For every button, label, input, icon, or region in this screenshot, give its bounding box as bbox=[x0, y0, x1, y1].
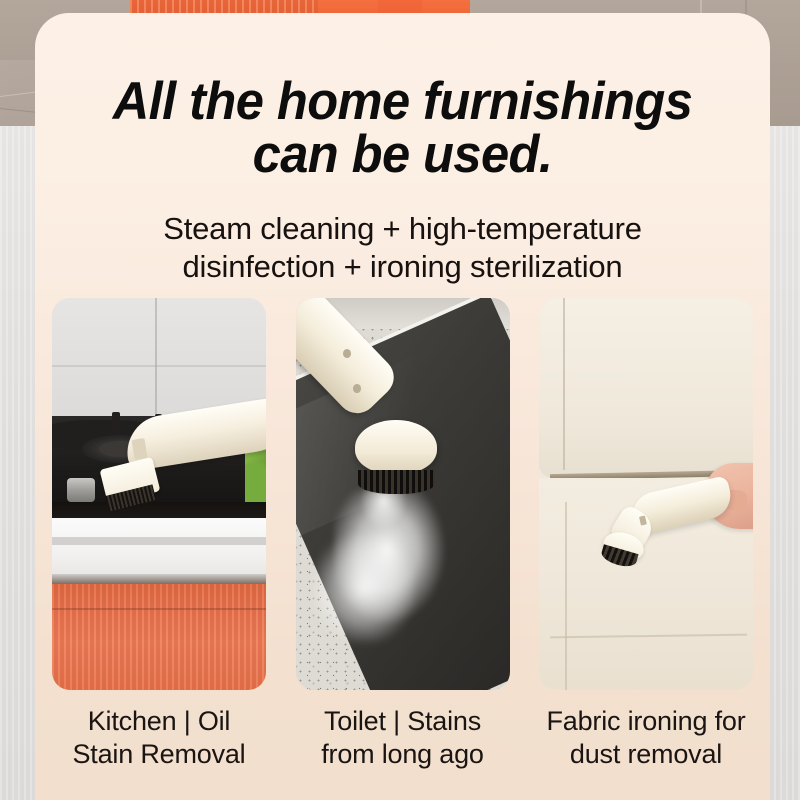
kitchen-stove-knob bbox=[67, 478, 95, 502]
sink-brush-head bbox=[355, 420, 436, 475]
kitchen-wall-seam-horizontal bbox=[52, 365, 266, 367]
caption-row: Kitchen | Oil Stain Removal Toilet | Sta… bbox=[52, 705, 753, 771]
subtitle: Steam cleaning + high-temperature disinf… bbox=[35, 210, 770, 286]
sofa-seat-seam-vertical bbox=[565, 502, 567, 690]
content-card: All the home furnishings can be used. St… bbox=[35, 13, 770, 800]
kitchen-cabinet-seam bbox=[52, 608, 266, 610]
photo-kitchen bbox=[52, 298, 266, 690]
page-title: All the home furnishings can be used. bbox=[52, 75, 754, 181]
photo-row bbox=[52, 298, 753, 690]
caption-fabric: Fabric ironing for dust removal bbox=[539, 705, 753, 771]
kitchen-counter-edge bbox=[52, 537, 266, 545]
photo-sink bbox=[296, 298, 510, 690]
photo-sofa bbox=[539, 298, 753, 690]
kitchen-cabinet-grain bbox=[52, 584, 266, 690]
caption-kitchen: Kitchen | Oil Stain Removal bbox=[52, 705, 266, 771]
caption-toilet: Toilet | Stains from long ago bbox=[296, 705, 510, 771]
sofa-backrest-seam bbox=[563, 298, 565, 470]
orange-band-texture bbox=[130, 0, 320, 14]
sofa-backrest bbox=[539, 298, 753, 478]
sink-wand-vent-2 bbox=[353, 384, 360, 393]
sink-brush-bristles bbox=[358, 470, 435, 494]
steam-plume-lower bbox=[313, 533, 416, 643]
product-marketing-image: All the home furnishings can be used. St… bbox=[0, 0, 800, 800]
